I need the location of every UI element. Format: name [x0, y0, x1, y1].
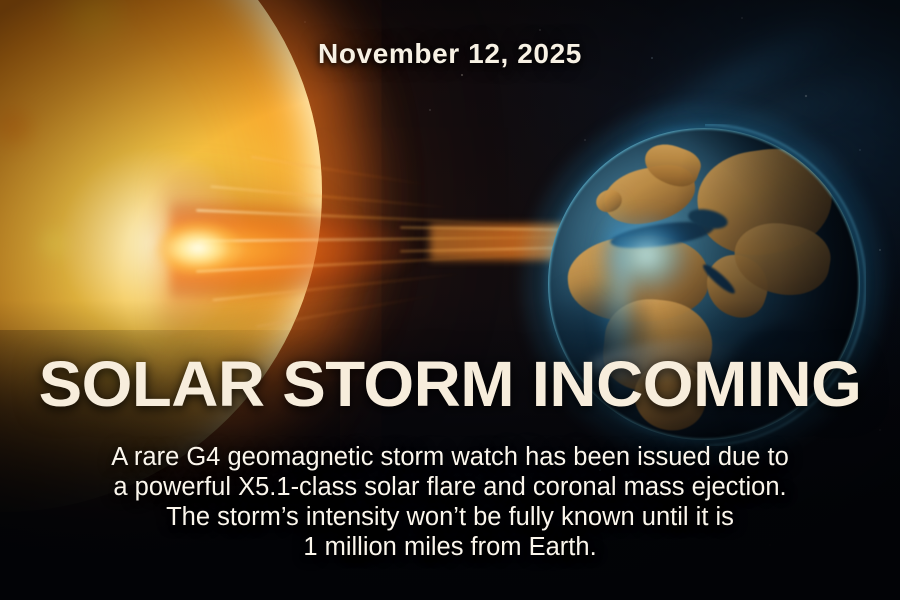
body-line: The storm’s intensity won’t be fully kno… — [0, 502, 900, 532]
body-line: 1 million miles from Earth. — [0, 532, 900, 562]
body-copy: A rare G4 geomagnetic storm watch has be… — [0, 442, 900, 562]
page-title: SOLAR STORM INCOMING — [0, 352, 900, 416]
solar-flare-core — [150, 200, 270, 296]
date-label: November 12, 2025 — [0, 38, 900, 70]
body-line: a powerful X5.1-class solar flare and co… — [0, 472, 900, 502]
body-line: A rare G4 geomagnetic storm watch has be… — [0, 442, 900, 472]
poster-canvas: November 12, 2025 SOLAR STORM INCOMING A… — [0, 0, 900, 600]
